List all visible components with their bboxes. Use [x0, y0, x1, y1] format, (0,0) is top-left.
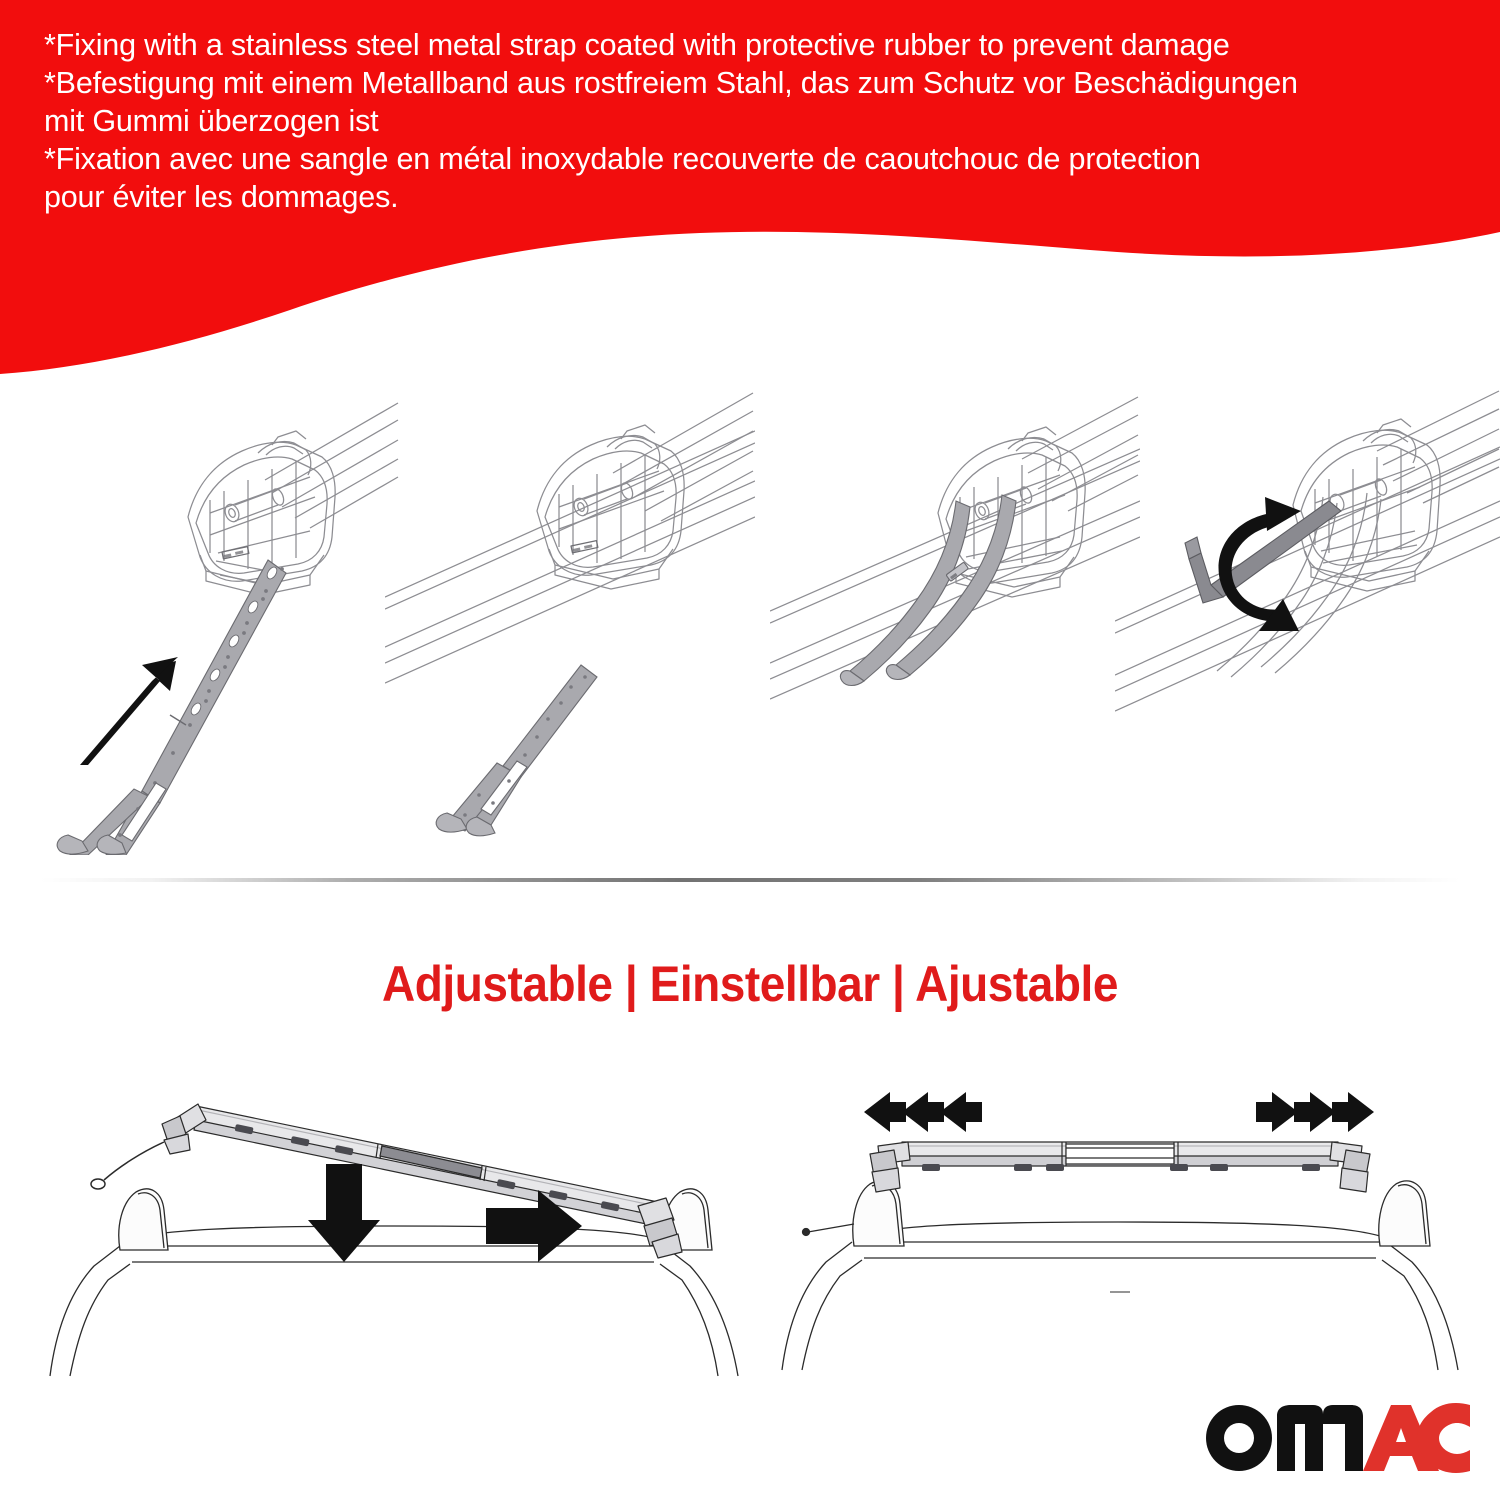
install-step-2-strap-under-rail — [385, 385, 755, 855]
diagram-lower-crossbar-onto-roof — [30, 1080, 760, 1380]
installation-steps-strip — [0, 385, 1500, 855]
install-step-3-strap-wrapped — [770, 385, 1140, 855]
down-arrow — [308, 1164, 380, 1262]
triple-left-arrow — [864, 1092, 982, 1132]
install-step-4-tighten-bolt — [1115, 385, 1500, 855]
logo-letter-o — [1206, 1405, 1272, 1471]
section-divider — [40, 878, 1460, 882]
metal-strap — [57, 560, 286, 855]
triple-right-arrow — [1256, 1092, 1374, 1132]
up-arrow — [80, 657, 178, 765]
install-step-1-insert-strap — [10, 385, 400, 855]
omac-logo — [1205, 1390, 1470, 1475]
logo-letter-m — [1277, 1405, 1363, 1471]
metal-strap — [436, 665, 597, 836]
product-infographic-page: *Fixing with a stainless steel metal str… — [0, 0, 1500, 1500]
banner-description: *Fixing with a stainless steel metal str… — [44, 26, 1464, 216]
metal-strap-wrapped — [840, 495, 1016, 686]
adjustable-heading: Adjustable | Einstellbar | Ajustable — [60, 955, 1440, 1013]
diagram-extend-telescoping-crossbar — [770, 1080, 1470, 1380]
banner: *Fixing with a stainless steel metal str… — [0, 0, 1500, 400]
